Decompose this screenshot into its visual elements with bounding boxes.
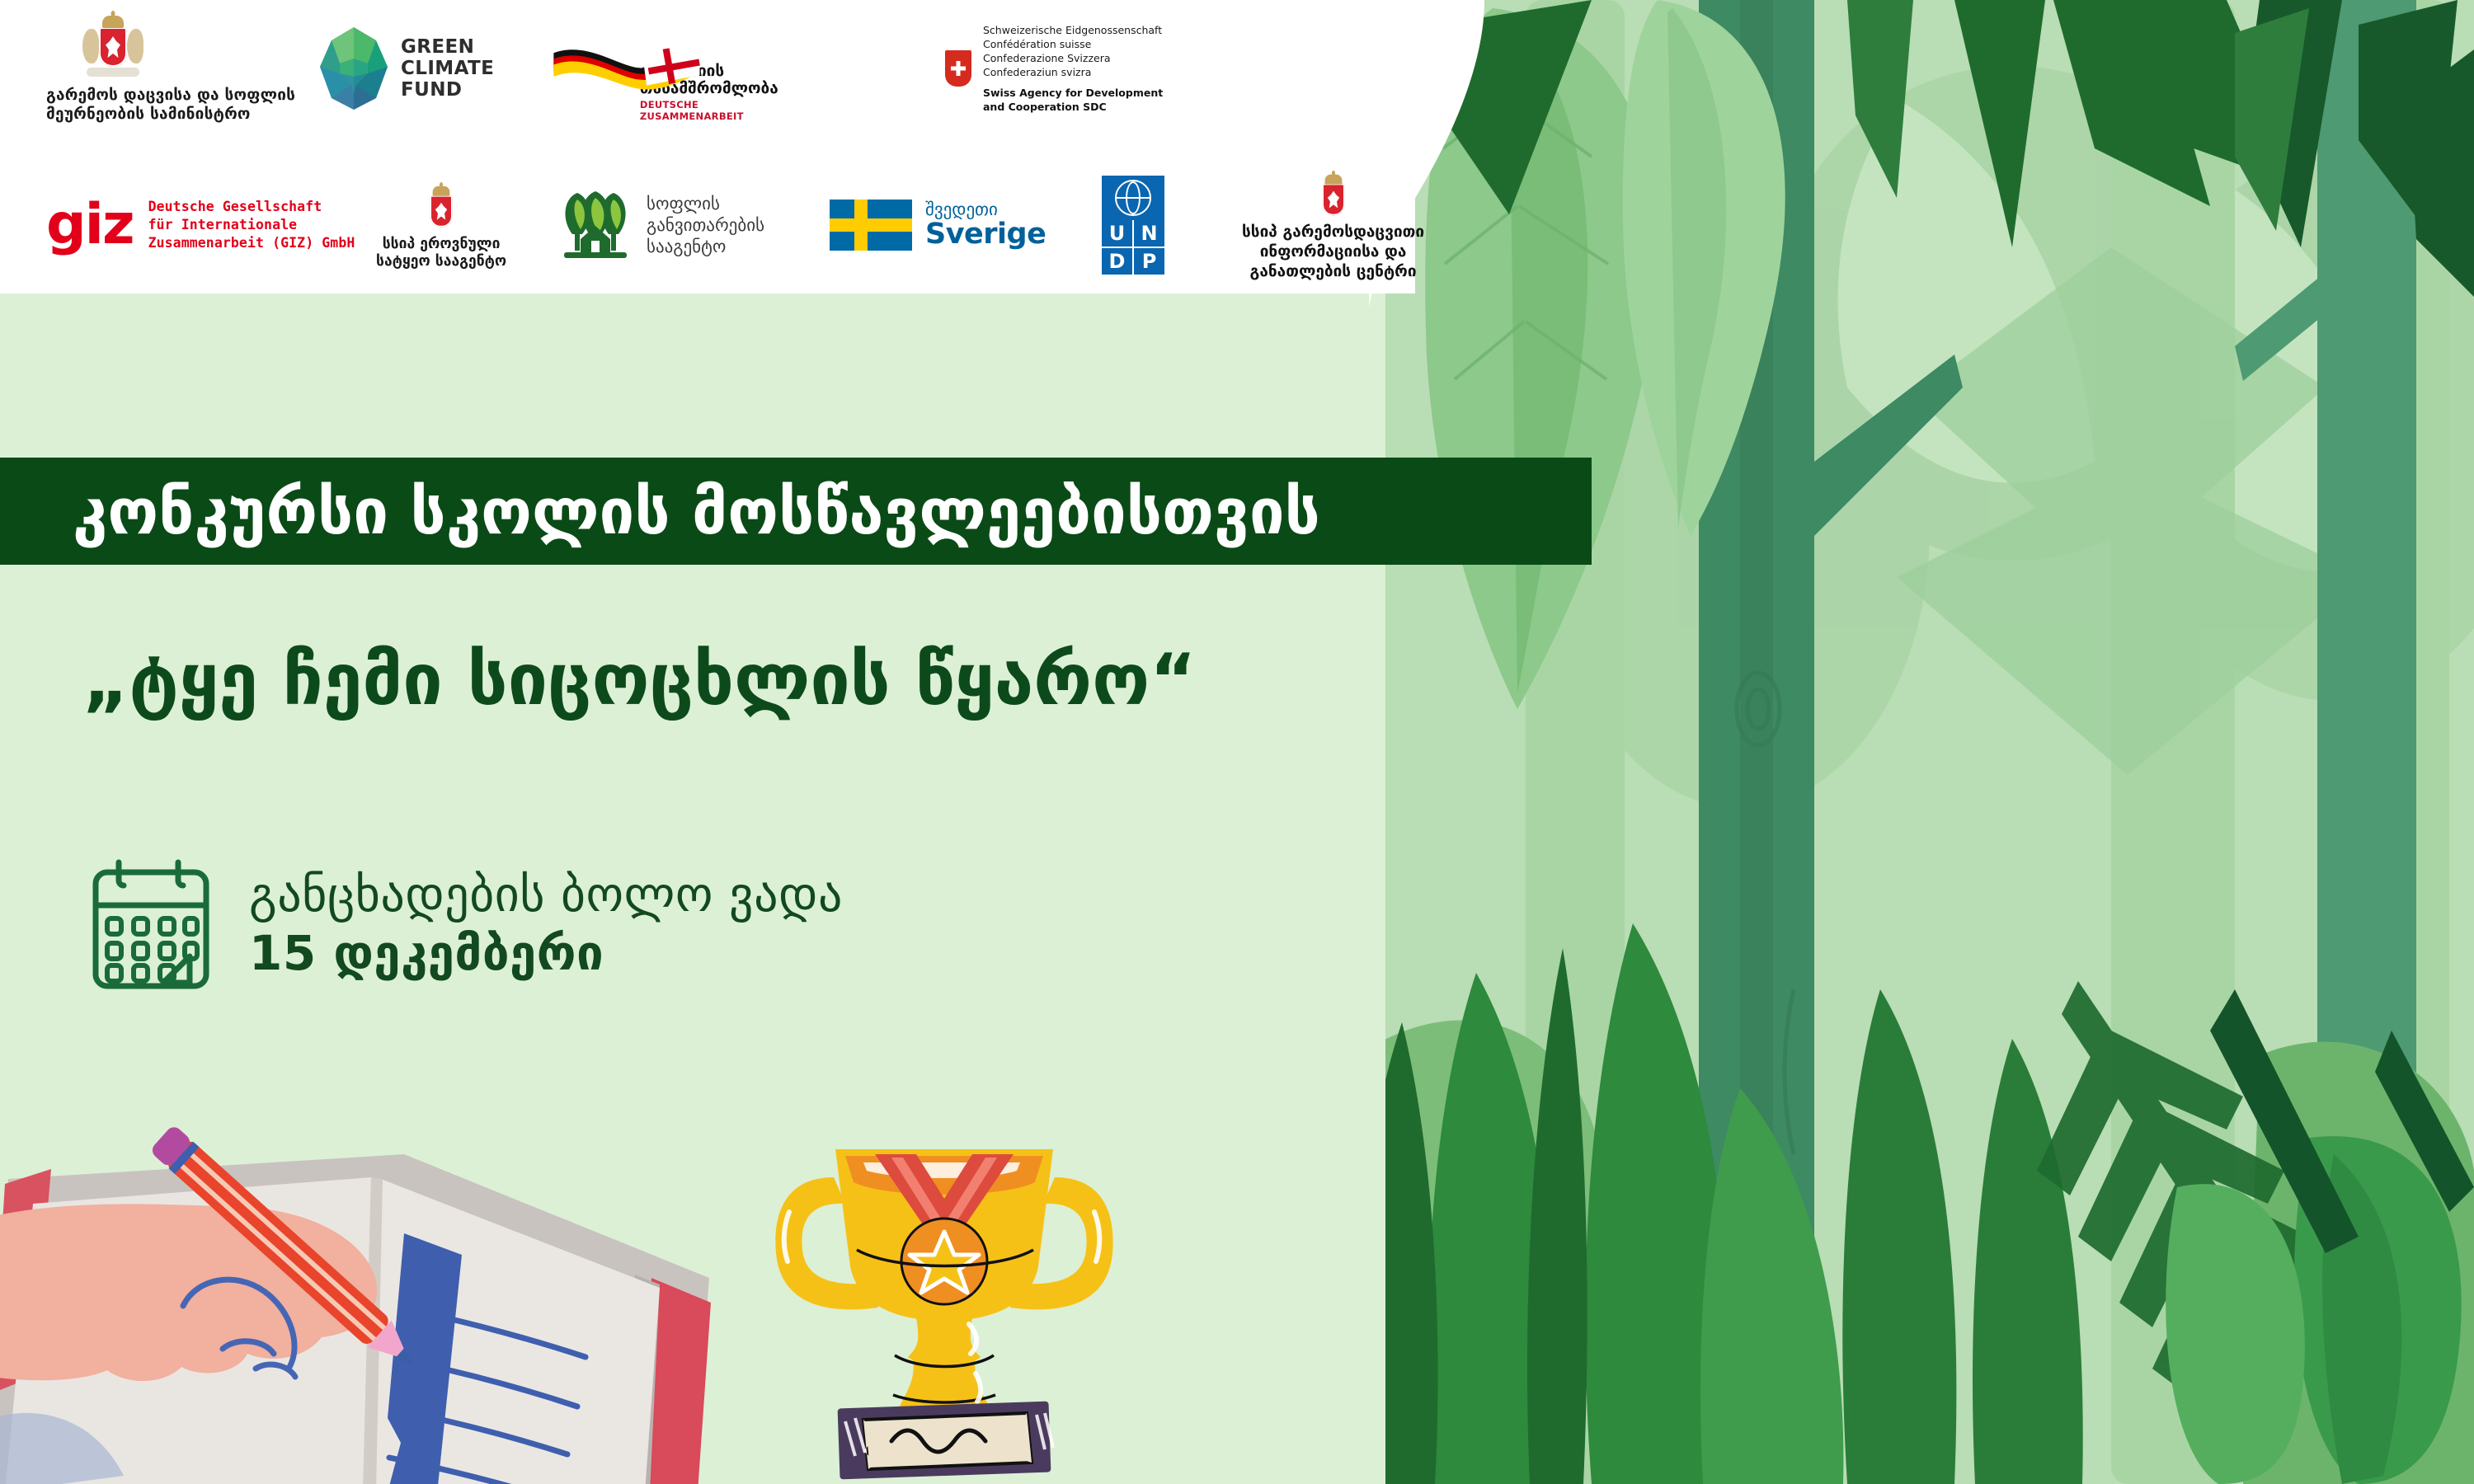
swiss-line-4: Confederaziun svizra (983, 65, 1163, 79)
sweden-flag-icon (830, 200, 912, 251)
gcf-wordmark: GREEN CLIMATE FUND (401, 36, 494, 101)
green-climate-fund-gem-icon (318, 26, 389, 111)
giz-line-1: Deutsche Gesellschaft (148, 198, 355, 216)
forest-leaves-icon (1385, 0, 2474, 1484)
logo-ministry-of-environment: გარემოს დაცვისა და სოფლის მეურნეობის სამ… (46, 14, 318, 123)
swiss-bold-2: and Cooperation SDC (983, 101, 1163, 115)
notebook-pencil-icon (0, 1031, 717, 1484)
gcf-line-3: FUND (401, 79, 494, 101)
giz-line-3: Zusammenarbeit (GIZ) GmbH (148, 234, 355, 252)
logo-swiss-confederation: Schweizerische Eidgenossenschaft Confédé… (945, 23, 1217, 115)
gcf-line-2: CLIMATE (401, 58, 494, 79)
partner-logos-row-2: giz Deutsche Gesellschaft für Internatio… (46, 163, 1514, 287)
rural-line-2: განვითარების (647, 214, 764, 236)
undp-letter-p: P (1134, 248, 1164, 275)
swiss-names: Schweizerische Eidgenossenschaft Confédé… (983, 23, 1163, 80)
deadline-text: განცხადების ბოლო ვადა 15 დეკემბერი (249, 866, 843, 983)
undp-letter-n: N (1134, 220, 1164, 247)
undp-globe-icon: U N D P (1102, 176, 1164, 275)
rural-line-1: სოფლის (647, 193, 764, 214)
georgia-coat-of-arms-icon (1307, 173, 1358, 213)
poster-root: გარემოს დაცვისა და სოფლის მეურნეობის სამ… (0, 0, 2474, 1484)
page-title: კონკურსი სკოლის მოსწავლეებისთვის (0, 475, 1320, 548)
deadline-block: განცხადების ბოლო ვადა 15 დეკემბერი (91, 857, 843, 991)
deadline-label: განცხადების ბოლო ვადა (249, 866, 843, 924)
logo-giz: giz Deutsche Gesellschaft für Internatio… (46, 198, 376, 251)
logo-sweden: შვედეთი Sverige (830, 200, 1102, 251)
swiss-line-3: Confederazione Svizzera (983, 51, 1163, 65)
rural-dev-name: სოფლის განვითარების სააგენტო (647, 193, 764, 258)
sweden-ka-label: შვედეთი (925, 200, 1046, 219)
page-subtitle: „ტყე ჩემი სიცოცხლის წყარო“ (82, 639, 1197, 721)
giz-line-2: für Internationale (148, 216, 355, 234)
undp-letter-d: D (1102, 248, 1132, 275)
giz-fullname: Deutsche Gesellschaft für Internationale… (148, 198, 355, 251)
georgia-coat-of-arms-icon (416, 185, 467, 226)
gcf-line-1: GREEN (401, 36, 494, 58)
rural-line-3: სააგენტო (647, 236, 764, 257)
centre-line-1: სსიპ გარემოსდაცვითი (1242, 223, 1424, 242)
calendar-icon (91, 857, 211, 991)
centre-line-3: განათლების ცენტრი (1242, 262, 1424, 282)
centre-line-2: ინფორმაციისა და (1242, 242, 1424, 262)
swiss-bold-1: Swiss Agency for Development (983, 87, 1163, 101)
undp-letter-u: U (1102, 220, 1132, 247)
ministry-line-1: გარემოს დაცვისა და სოფლის (46, 86, 295, 104)
swiss-line-1: Schweizerische Eidgenossenschaft (983, 23, 1163, 37)
swiss-line-2: Confédération suisse (983, 37, 1163, 51)
trees-house-icon (557, 190, 633, 261)
giz-wordmark-icon: giz (46, 203, 134, 247)
ministry-line-2: მეურნეობის სამინისტრო (46, 105, 295, 123)
swiss-cross-flag-icon (945, 50, 971, 87)
logo-undp: U N D P (1102, 176, 1225, 275)
logo-environmental-info-centre: სსიპ გარემოსდაცვითი ინფორმაციისა და განა… (1242, 168, 1514, 281)
swiss-agency-label: Swiss Agency for Development and Coopera… (983, 87, 1163, 115)
forestry-line-1: სსიპ ეროვნული (376, 236, 506, 253)
forestry-line-2: სატყეო სააგენტო (376, 253, 506, 270)
logo-rural-development-agency: სოფლის განვითარების სააგენტო (557, 190, 830, 261)
title-banner: კონკურსი სკოლის მოსწავლეებისთვის (0, 458, 1592, 565)
logo-green-climate-fund: GREEN CLIMATE FUND (318, 26, 549, 111)
georgia-coat-of-arms-icon (81, 14, 145, 78)
logo-national-forestry-agency: სსიპ ეროვნული სატყეო სააგენტო (376, 180, 557, 271)
german-georgian-flag-ribbon-icon (549, 19, 704, 118)
logo-german-cooperation: გერმანიის თანამშრომლობა DEUTSCHE ZUSAMME… (549, 15, 788, 123)
trophy-icon (755, 1129, 1134, 1484)
sweden-wordmark: Sverige (925, 219, 1046, 250)
deadline-date: 15 დეკემბერი (249, 924, 843, 983)
partner-logos-row-1: გარემოს დაცვისა და სოფლის მეურნეობის სამ… (46, 7, 1217, 130)
